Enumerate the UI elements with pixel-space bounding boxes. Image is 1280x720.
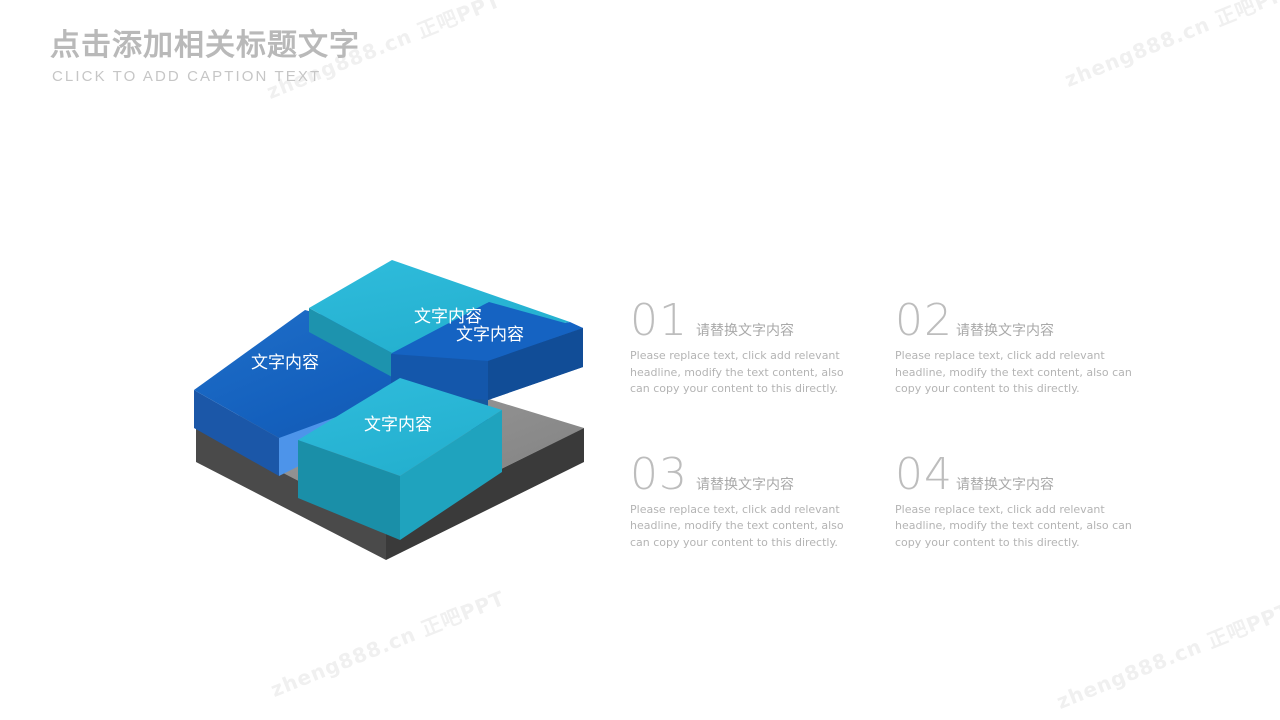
slide-canvas: zheng888.cn 正吧PPT zheng888.cn 正吧PPT zhen… xyxy=(0,0,1280,720)
item-header: 03 请替换文字内容 xyxy=(630,454,880,496)
item-grid: 01 请替换文字内容 Please replace text, click ad… xyxy=(630,300,1150,552)
item-body: Please replace text, click add relevant … xyxy=(630,502,858,552)
watermark-bottom-right: zheng888.cn 正吧PPT xyxy=(1052,594,1280,715)
block-label-front-right: 文字内容 xyxy=(456,325,524,345)
watermark-top-right: zheng888.cn 正吧PPT xyxy=(1060,0,1280,93)
item-header: 04 请替换文字内容 xyxy=(895,454,1145,496)
list-item: 03 请替换文字内容 Please replace text, click ad… xyxy=(630,454,880,552)
item-number: 01 xyxy=(630,300,688,342)
block-label-center-bottom: 文字内容 xyxy=(364,415,432,435)
list-item: 01 请替换文字内容 Please replace text, click ad… xyxy=(630,300,880,398)
item-title: 请替换文字内容 xyxy=(696,320,794,340)
isometric-diagram: 文字内容 文字内容 文字内容 文字内容 xyxy=(170,250,610,570)
item-body: Please replace text, click add relevant … xyxy=(895,502,1135,552)
item-number: 04 xyxy=(895,454,953,496)
block-label-back-left: 文字内容 xyxy=(251,353,319,373)
item-header: 02 请替换文字内容 xyxy=(895,300,1145,342)
block-label-back-right: 文字内容 xyxy=(414,307,482,327)
item-title: 请替换文字内容 xyxy=(956,320,1054,340)
content-area: 01 请替换文字内容 Please replace text, click ad… xyxy=(630,300,1150,552)
page-title: 点击添加相关标题文字 xyxy=(50,28,360,63)
item-number: 02 xyxy=(895,300,953,342)
item-body: Please replace text, click add relevant … xyxy=(630,348,858,398)
item-title: 请替换文字内容 xyxy=(696,474,794,494)
item-header: 01 请替换文字内容 xyxy=(630,300,880,342)
item-number: 03 xyxy=(630,454,688,496)
list-item: 04 请替换文字内容 Please replace text, click ad… xyxy=(895,454,1145,552)
page-subtitle: CLICK TO ADD CAPTION TEXT xyxy=(52,68,360,85)
watermark-bottom-left: zheng888.cn 正吧PPT xyxy=(266,582,509,703)
list-item: 02 请替换文字内容 Please replace text, click ad… xyxy=(895,300,1145,398)
item-title: 请替换文字内容 xyxy=(956,474,1054,494)
slide-header: 点击添加相关标题文字 CLICK TO ADD CAPTION TEXT xyxy=(50,28,360,85)
item-body: Please replace text, click add relevant … xyxy=(895,348,1135,398)
